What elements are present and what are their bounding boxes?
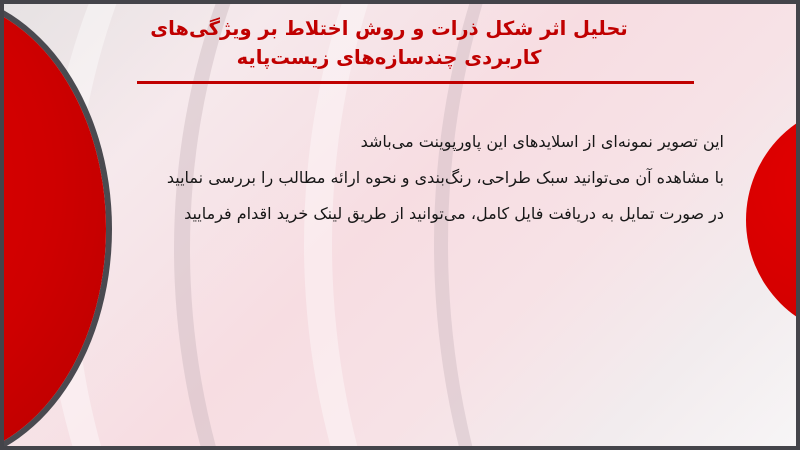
body-line-2: با مشاهده آن می‌توانید سبک طراحی، رنگ‌بن…: [84, 160, 724, 196]
body-line-1: این تصویر نمونه‌ای از اسلایدهای این پاور…: [84, 124, 724, 160]
slide-canvas: تحلیل اثر شکل ذرات و روش اختلاط بر ویژگی…: [0, 0, 800, 450]
body-line-3: در صورت تمایل به دریافت فایل کامل، می‌تو…: [84, 196, 724, 232]
slide-title: تحلیل اثر شکل ذرات و روش اختلاط بر ویژگی…: [64, 14, 714, 72]
title-underline-rule: [137, 81, 694, 84]
red-circle-shape: [746, 102, 796, 338]
title-line-1: تحلیل اثر شکل ذرات و روش اختلاط بر ویژگی…: [64, 14, 714, 43]
title-line-2: کاربردی چندسازه‌های زیست‌پایه: [64, 43, 714, 72]
slide-body-text: این تصویر نمونه‌ای از اسلایدهای این پاور…: [84, 124, 724, 232]
slide-background: تحلیل اثر شکل ذرات و روش اختلاط بر ویژگی…: [4, 4, 796, 446]
